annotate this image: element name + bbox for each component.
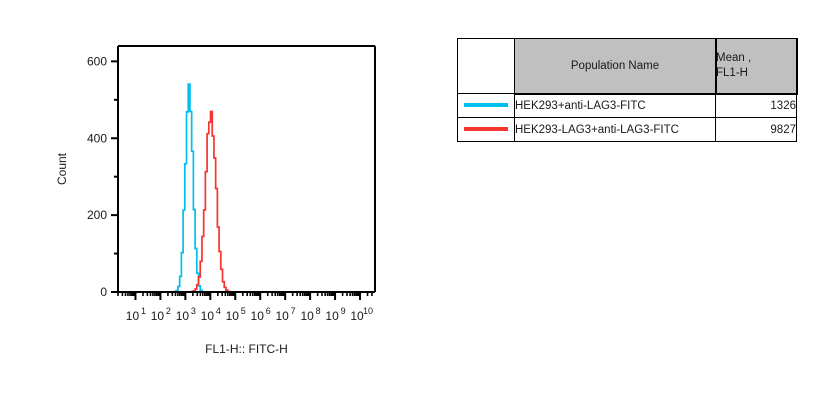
legend-mean-value: 1326 bbox=[716, 94, 797, 118]
population-legend-panel: Population Name Mean , FL1-H HEK293+anti… bbox=[457, 38, 797, 142]
x-tick-label: 104 bbox=[201, 306, 221, 323]
histogram-trace bbox=[118, 84, 375, 292]
legend-header-mean-line1: Mean , bbox=[716, 52, 751, 64]
x-tick-label: 108 bbox=[300, 306, 320, 323]
legend-population-name: HEK293-LAG3+anti-LAG3-FITC bbox=[515, 118, 716, 142]
x-tick-label: 106 bbox=[251, 306, 271, 323]
x-tick-label-exponent: 5 bbox=[241, 306, 246, 316]
legend-row[interactable]: HEK293+anti-LAG3-FITC1326 bbox=[458, 94, 797, 118]
legend-header-population-name: Population Name bbox=[515, 39, 716, 94]
series-color-swatch bbox=[464, 103, 508, 107]
histogram-trace bbox=[118, 111, 375, 292]
legend-body: HEK293+anti-LAG3-FITC1326HEK293-LAG3+ant… bbox=[458, 94, 797, 142]
y-tick-label: 200 bbox=[87, 208, 107, 222]
x-tick-label-base: 10 bbox=[126, 309, 140, 323]
legend-header-mean-line2: FL1-H bbox=[716, 67, 748, 79]
legend-mean-value: 9827 bbox=[716, 118, 797, 142]
x-tick-label-base: 10 bbox=[350, 309, 364, 323]
legend-row[interactable]: HEK293-LAG3+anti-LAG3-FITC9827 bbox=[458, 118, 797, 142]
x-tick-label-base: 10 bbox=[325, 309, 339, 323]
x-tick-label-exponent: 7 bbox=[291, 306, 296, 316]
y-tick-label: 400 bbox=[87, 131, 107, 145]
x-tick-label-base: 10 bbox=[251, 309, 265, 323]
legend-color-swatch-cell bbox=[458, 94, 515, 118]
series-color-swatch bbox=[464, 127, 508, 131]
plot-frame bbox=[118, 46, 375, 292]
x-axis-ticks bbox=[118, 292, 372, 300]
x-tick-label-exponent: 8 bbox=[316, 306, 321, 316]
x-tick-label-base: 10 bbox=[151, 309, 165, 323]
x-tick-label-exponent: 1 bbox=[141, 306, 146, 316]
x-tick-label-exponent: 6 bbox=[266, 306, 271, 316]
x-tick-label: 103 bbox=[176, 306, 196, 323]
y-tick-label: 600 bbox=[87, 54, 107, 68]
x-tick-label: 105 bbox=[226, 306, 246, 323]
legend-header-swatch bbox=[458, 39, 515, 94]
x-tick-label-exponent: 9 bbox=[341, 306, 346, 316]
x-tick-label-exponent: 4 bbox=[216, 306, 221, 316]
x-tick-label-base: 10 bbox=[300, 309, 314, 323]
y-axis-title: Count bbox=[55, 152, 69, 185]
x-tick-label: 107 bbox=[275, 306, 295, 323]
y-axis-ticks: 0200400600 bbox=[87, 54, 118, 299]
histogram-traces bbox=[118, 84, 375, 292]
legend-header-row: Population Name Mean , FL1-H bbox=[458, 39, 797, 94]
x-tick-label-exponent: 3 bbox=[191, 306, 196, 316]
x-tick-label: 101 bbox=[126, 306, 146, 323]
x-tick-label-exponent: 2 bbox=[166, 306, 171, 316]
x-tick-label-base: 10 bbox=[201, 309, 215, 323]
x-tick-label: 1010 bbox=[350, 306, 373, 323]
legend-population-name: HEK293+anti-LAG3-FITC bbox=[515, 94, 716, 118]
legend-color-swatch-cell bbox=[458, 118, 515, 142]
legend-header-mean: Mean , FL1-H bbox=[716, 39, 797, 94]
x-axis-title: FL1-H:: FITC-H bbox=[205, 342, 288, 356]
histogram-plot-panel: 0200400600Count1011021031041051061071081… bbox=[0, 0, 440, 405]
x-tick-labels: 1011021031041051061071081091010 bbox=[126, 306, 373, 323]
x-tick-label-base: 10 bbox=[275, 309, 289, 323]
population-legend-table: Population Name Mean , FL1-H HEK293+anti… bbox=[457, 38, 797, 142]
x-tick-label-exponent: 10 bbox=[363, 306, 373, 316]
y-tick-label: 0 bbox=[100, 285, 107, 299]
x-tick-label: 102 bbox=[151, 306, 171, 323]
x-tick-label: 109 bbox=[325, 306, 345, 323]
x-tick-label-base: 10 bbox=[176, 309, 190, 323]
x-tick-label-base: 10 bbox=[226, 309, 240, 323]
flow-cytometry-histogram: 0200400600Count1011021031041051061071081… bbox=[0, 0, 440, 405]
